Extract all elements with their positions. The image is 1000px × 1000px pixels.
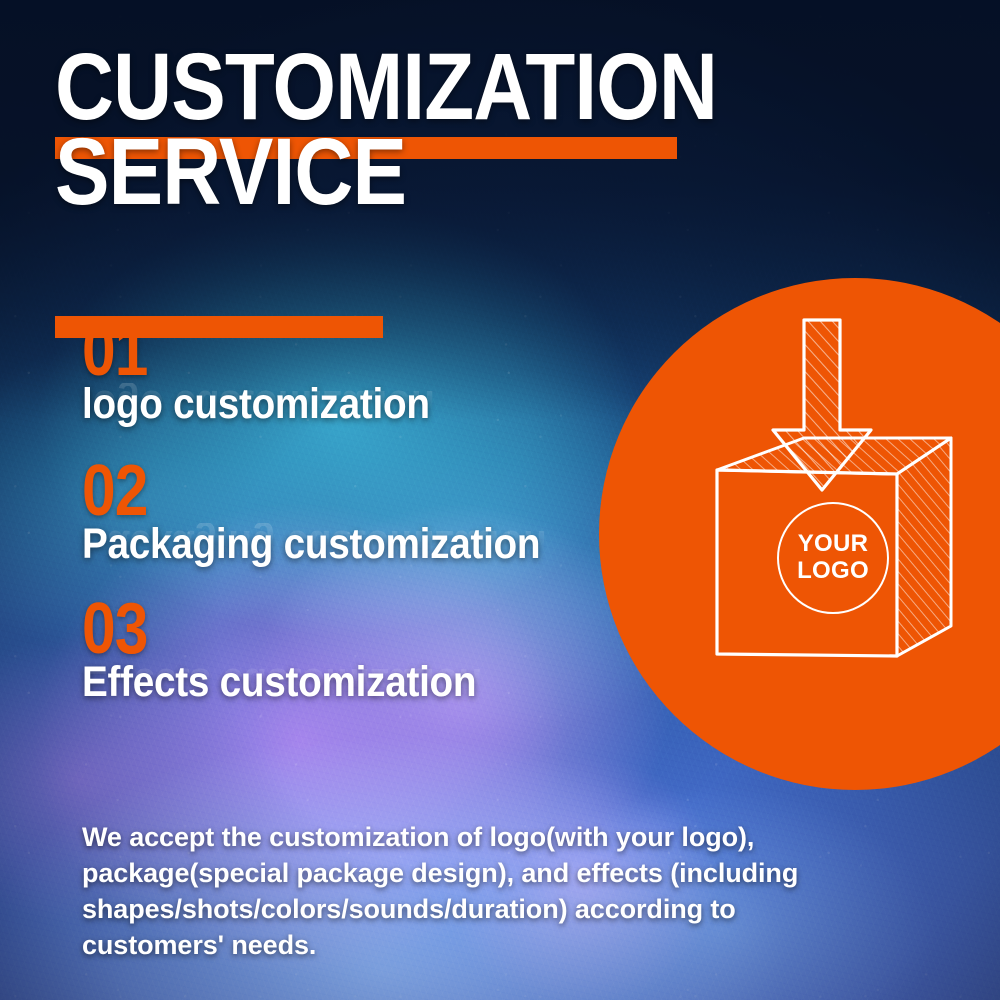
feature-item-2-label: Packaging customization [82,523,622,566]
feature-item-2-label-wrap: Packaging customization Packaging custom… [82,523,682,566]
feature-item-3-label-wrap: Effects customization Effects customizat… [82,661,682,704]
box-right-face [897,438,951,656]
headline-line-2-wrap: SERVICE [55,129,825,216]
feature-list: 01 logo customization logo customization… [82,322,682,704]
your-logo-badge: YOUR LOGO [777,502,889,614]
customization-service-poster: YOUR LOGO CUSTOMIZATION SERVICE 01 logo … [0,0,1000,1000]
feature-item-3: 03 Effects customization Effects customi… [82,600,682,704]
your-logo-line-1: YOUR [798,531,869,558]
your-logo-line-2: LOGO [797,558,869,585]
feature-item-3-number: 03 [82,600,586,659]
feature-item-3-label: Effects customization [82,661,622,704]
headline-block: CUSTOMIZATION SERVICE [55,44,825,217]
headline-underline-bar-2 [55,316,383,338]
headline-line-2: SERVICE [55,129,717,216]
body-paragraph-text: We accept the customization of logo(with… [82,820,842,964]
body-paragraph: We accept the customization of logo(with… [82,820,842,964]
feature-item-2-number: 02 [82,462,586,521]
headline-line-1: CUSTOMIZATION [55,44,717,131]
feature-item-1-label: logo customization [82,383,622,426]
headline-line-1-wrap: CUSTOMIZATION [55,44,825,131]
feature-item-2: 02 Packaging customization Packaging cus… [82,462,682,566]
feature-item-1-label-wrap: logo customization logo customization [82,383,682,426]
